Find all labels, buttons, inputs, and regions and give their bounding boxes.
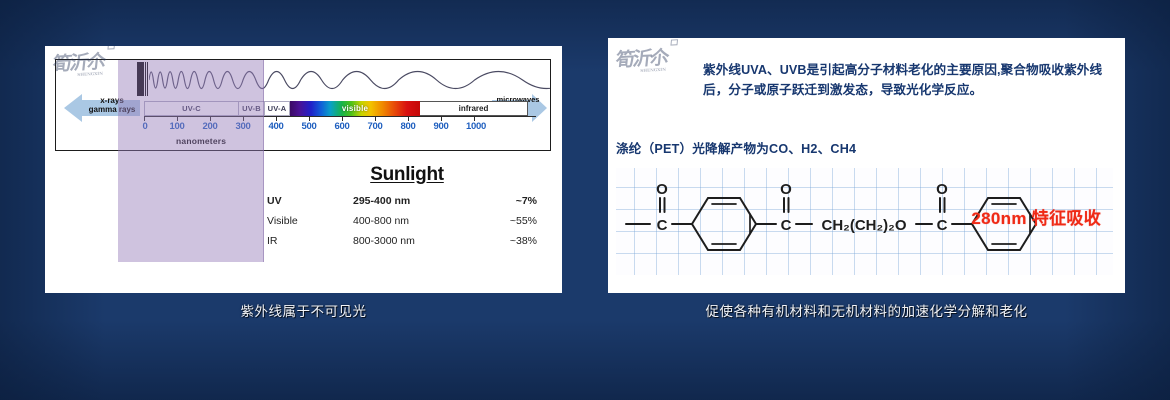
axis-tick-label: 500 <box>302 121 317 132</box>
table-row: UV 295-400 nm ~7% <box>267 195 547 207</box>
wavelength-axis <box>144 116 536 117</box>
sunlight-table: Sunlight UV 295-400 nm ~7% Visible 400-8… <box>267 164 547 255</box>
chemical-structure-diagram: C O C O CH₂(CH₂)₂O C O 280nm 特征吸收 <box>616 168 1113 275</box>
sunlight-range: 400-800 nm <box>353 215 477 227</box>
svg-text:C: C <box>937 217 948 234</box>
sunlight-share: ~7% <box>477 195 537 207</box>
watermark-logo: 筍沂尒 SHENGXIN <box>614 43 668 75</box>
table-row: IR 800-3000 nm ~38% <box>267 235 547 247</box>
sunlight-type: IR <box>267 235 353 247</box>
high-frequency-block <box>137 62 149 96</box>
sunlight-title: Sunlight <box>267 164 547 186</box>
svg-text:CH₂(CH₂)₂O: CH₂(CH₂)₂O <box>822 217 907 234</box>
axis-tick-label: 800 <box>401 121 416 132</box>
svg-text:C: C <box>781 217 792 234</box>
pet-degradation-line: 涤纶（PET）光降解产物为CO、H2、CH4 <box>616 138 856 157</box>
band-uv-a: UV-A <box>264 101 290 116</box>
watermark-box-icon <box>107 46 115 50</box>
watermark-subtext: SHENGXIN <box>614 67 666 75</box>
sunlight-share: ~55% <box>477 215 537 227</box>
axis-tick-label: 100 <box>170 121 185 132</box>
axis-tick-label: 300 <box>236 121 251 132</box>
axis-tick-label: 400 <box>269 121 284 132</box>
watermark-text: 筍沂尒 <box>615 47 669 72</box>
svg-text:C: C <box>657 217 668 234</box>
sunlight-type: UV <box>267 195 353 207</box>
table-row: Visible 400-800 nm ~55% <box>267 215 547 227</box>
band-uv-c: UV-C <box>144 101 238 116</box>
uv-aging-paragraph: 紫外线UVA、UVB是引起高分子材料老化的主要原因,聚合物吸收紫外线后，分子或原… <box>703 60 1115 101</box>
axis-tick-label: 200 <box>203 121 218 132</box>
caption-right: 促使各种有机材料和无机材料的加速化学分解和老化 <box>608 300 1125 320</box>
sunlight-range: 295-400 nm <box>353 195 477 207</box>
absorption-annotation: 280nm 特征吸收 <box>971 204 1101 229</box>
axis-tick-label: 1000 <box>466 121 486 132</box>
watermark-box-icon <box>670 39 678 45</box>
sunlight-type: Visible <box>267 215 353 227</box>
right-panel: 筍沂尒 SHENGXIN 紫外线UVA、UVB是引起高分子材料老化的主要原因,聚… <box>608 38 1125 293</box>
band-infrared: infrared <box>420 101 528 116</box>
svg-text:O: O <box>936 181 948 198</box>
svg-text:O: O <box>656 181 668 198</box>
band-uv-b: UV-B <box>238 101 264 116</box>
sunlight-range: 800-3000 nm <box>353 235 477 247</box>
band-visible: visible <box>290 101 420 116</box>
axis-unit-label: nanometers <box>176 136 226 146</box>
spectrum-band-bar: UV-C UV-B UV-A visible infrared <box>144 101 536 116</box>
sunlight-share: ~38% <box>477 235 537 247</box>
caption-left: 紫外线属于不可见光 <box>45 300 562 320</box>
svg-text:O: O <box>780 181 792 198</box>
left-panel: 筍沂尒 SHENGXIN x-rays gamma rays <box>45 46 562 293</box>
axis-tick-label: 600 <box>335 121 350 132</box>
xray-gamma-label: x-rays gamma rays <box>84 96 140 115</box>
axis-tick-label: 700 <box>368 121 383 132</box>
em-spectrum-figure: x-rays gamma rays microwaves radio UV-C … <box>55 59 551 151</box>
axis-tick-label: 900 <box>434 121 449 132</box>
slide-stage: 筍沂尒 SHENGXIN x-rays gamma rays <box>0 0 1170 400</box>
axis-tick-label: 0 <box>143 121 148 132</box>
